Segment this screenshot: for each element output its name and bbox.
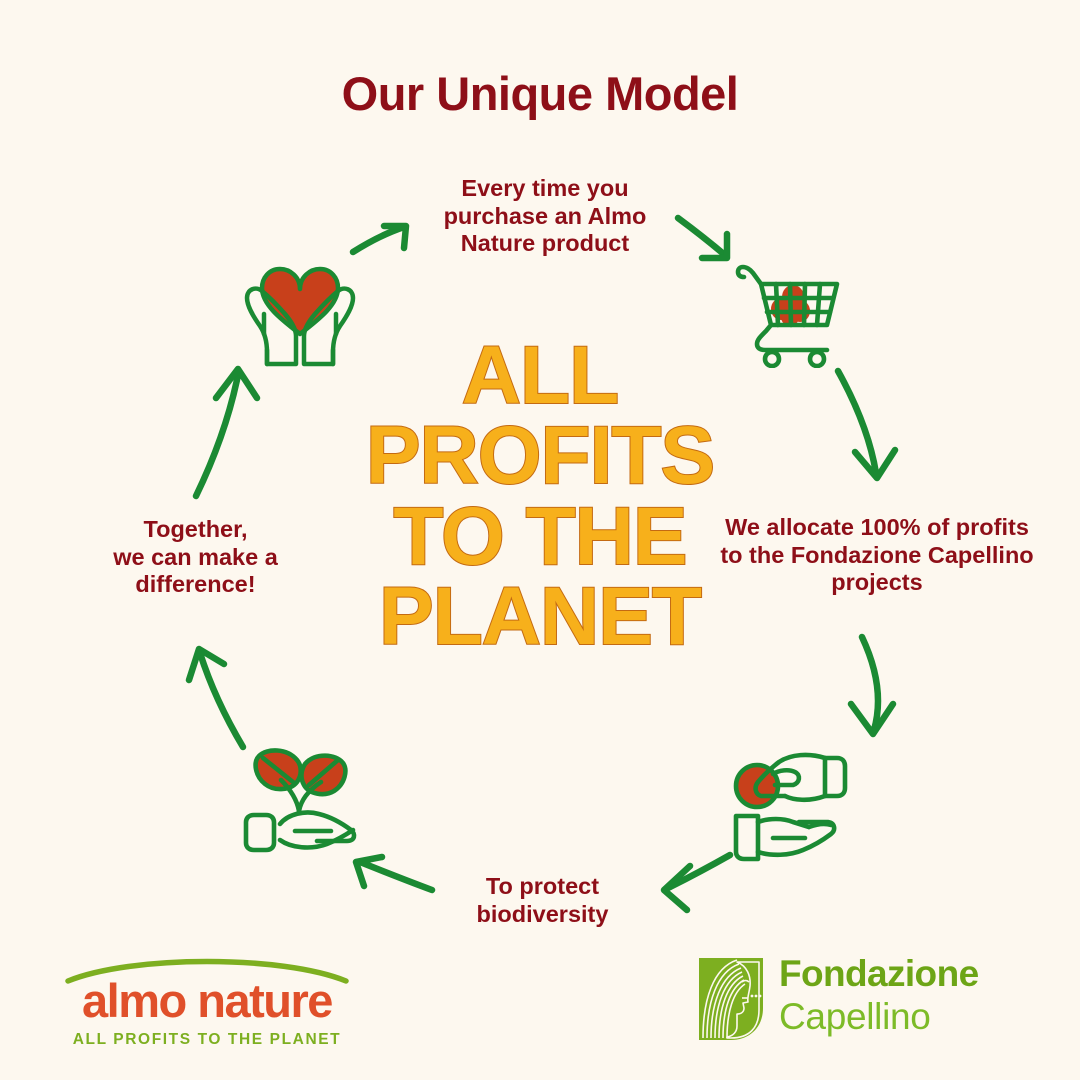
step-caption-protect: To protect biodiversity <box>440 873 645 928</box>
arrow-plant-to-together <box>189 649 243 747</box>
shopping-cart-icon <box>735 253 845 368</box>
hands-holding-heart-icon <box>240 252 360 367</box>
arrow-together-to-heart <box>196 369 257 496</box>
slogan-line-1: ALL <box>300 336 780 416</box>
infographic-canvas: Our Unique Model <box>0 0 1080 1080</box>
hand-giving-coin-icon <box>713 748 848 863</box>
arrow-hand-coin-to-protect <box>664 855 730 910</box>
almo-nature-wordmark: almo nature <box>62 977 352 1024</box>
together-line-1: Together, <box>143 516 247 542</box>
slogan-line-4: PLANET <box>300 577 780 657</box>
woman-profile-badge-icon <box>697 956 765 1042</box>
arrow-allocate-to-hand-coin <box>851 637 893 734</box>
page-title: Our Unique Model <box>0 66 1080 121</box>
almo-nature-logo: almo nature ALL PROFITS TO THE PLANET <box>62 955 352 1055</box>
step-caption-allocate: We allocate 100% of profits to the Fonda… <box>712 514 1042 597</box>
center-slogan: ALL PROFITS TO THE PLANET <box>300 336 780 657</box>
step-caption-together: Together, we can make a difference! <box>88 516 303 599</box>
slogan-line-2: PROFITS <box>300 416 780 496</box>
almo-nature-tagline: ALL PROFITS TO THE PLANET <box>62 1031 352 1049</box>
capellino-word: Capellino <box>779 997 931 1036</box>
slogan-line-3: TO THE <box>300 497 780 577</box>
arrow-purchase-to-cart <box>678 218 727 258</box>
arrow-heart-to-purchase <box>353 226 406 252</box>
step-caption-purchase: Every time you purchase an Almo Nature p… <box>410 175 680 258</box>
fondazione-word: Fondazione <box>779 954 979 993</box>
fondazione-capellino-logo: Fondazione Capellino <box>697 952 1037 1056</box>
hand-holding-plant-icon <box>233 738 368 858</box>
together-line-3: difference! <box>135 571 255 597</box>
arrow-cart-to-allocate <box>838 371 895 478</box>
arrow-protect-to-plant <box>356 857 432 890</box>
together-line-2: we can make a <box>113 544 278 570</box>
